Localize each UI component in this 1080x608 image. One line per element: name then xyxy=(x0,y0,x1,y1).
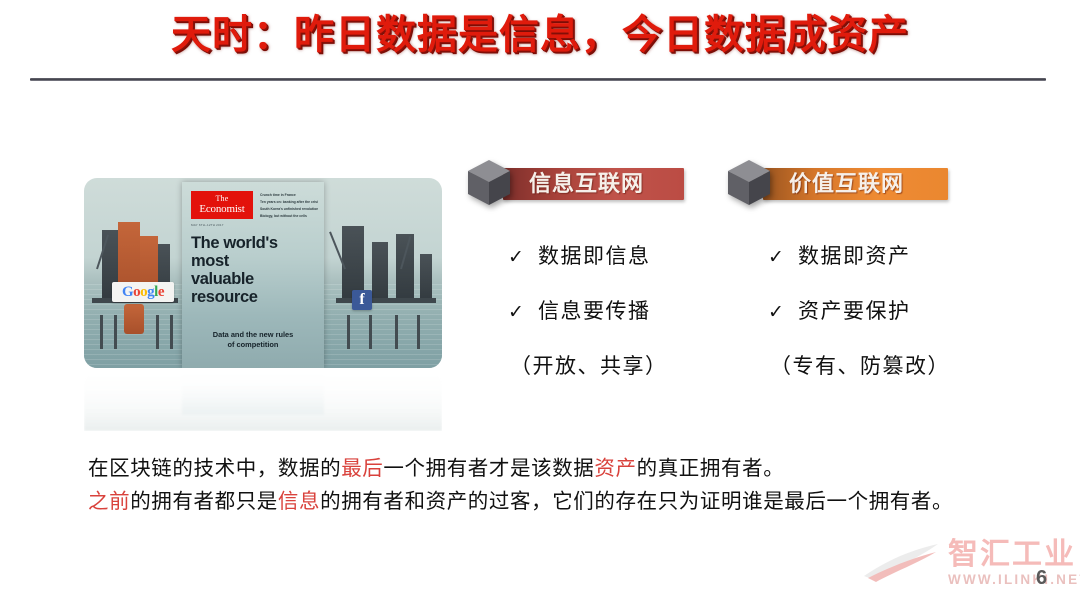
check-icon: ✓ xyxy=(508,248,538,267)
cover-subtitle: Data and the new rules of competition xyxy=(182,330,324,350)
paragraph-run: 的拥有者都只是 xyxy=(130,490,278,513)
economist-name: Economist xyxy=(191,203,253,215)
list-item: ✓ 数据即资产 xyxy=(768,240,950,295)
paragraph-run: 在区块链的技术中，数据的 xyxy=(88,457,341,480)
photo-reflection-cover xyxy=(182,369,324,415)
banner-information-internet: 信息互联网 xyxy=(462,162,684,204)
list-note: （专有、防篡改） xyxy=(768,350,950,400)
list-item-label: 数据即资产 xyxy=(798,240,911,270)
paragraph-line-2: 之前的拥有者都只是信息的拥有者和资产的过客，它们的存在只为证明谁是最后一个拥有者… xyxy=(88,485,1018,518)
cover-headline: The world's most valuable resource xyxy=(191,234,317,306)
rig-column xyxy=(124,304,144,334)
facebook-logo-chip: f xyxy=(352,290,372,310)
list-item: ✓ 资产要保护 xyxy=(768,295,950,350)
page-title: 天时：昨日数据是信息，今日数据成资产 xyxy=(171,14,909,56)
banner-bar: 信息互联网 xyxy=(503,168,684,200)
rig-silhouette xyxy=(420,254,432,300)
check-icon: ✓ xyxy=(768,248,798,267)
banner-label: 信息互联网 xyxy=(503,168,684,200)
cube-icon xyxy=(462,156,516,210)
title-divider xyxy=(30,78,1046,81)
rig-silhouette xyxy=(372,242,388,300)
bullet-list-information: ✓ 数据即信息 ✓ 信息要传播 （开放、共享） xyxy=(508,240,668,400)
paragraph-line-1: 在区块链的技术中，数据的最后一个拥有者才是该数据资产的真正拥有者。 xyxy=(88,452,1018,485)
economist-cover-photo: Google f The Economist MAY 6TH–12TH 2017… xyxy=(84,178,442,368)
slide-canvas: 天时：昨日数据是信息，今日数据成资产 xyxy=(0,0,1080,608)
paragraph-run: 的拥有者和资产的过客，它们的存在只为证明谁是最后一个拥有者。 xyxy=(320,490,953,513)
cover-blurb-list: Crunch time in France Ten years on: bank… xyxy=(260,192,318,220)
check-icon: ✓ xyxy=(508,303,538,322)
highlighted-term: 资产 xyxy=(594,457,636,480)
paragraph-run: 的真正拥有者。 xyxy=(637,457,785,480)
highlighted-term: 信息 xyxy=(278,490,320,513)
highlighted-term: 之前 xyxy=(88,490,130,513)
cover-headline-line1: The world's most xyxy=(191,234,317,270)
cover-subtitle-line1: Data and the new rules xyxy=(182,330,324,340)
cover-headline-line2: valuable resource xyxy=(191,270,317,306)
photo-frame: Google f The Economist MAY 6TH–12TH 2017… xyxy=(84,178,442,368)
economist-the: The xyxy=(191,191,253,203)
google-logo-chip: Google xyxy=(112,282,174,302)
rig-silhouette xyxy=(342,226,364,300)
cover-blurb: Ten years on: banking after the crisis xyxy=(260,199,318,206)
cube-icon xyxy=(722,156,776,210)
list-item-label: 资产要保护 xyxy=(798,295,911,325)
issue-date: MAY 6TH–12TH 2017 xyxy=(191,223,224,227)
list-item: ✓ 数据即信息 xyxy=(508,240,668,295)
banner-label: 价值互联网 xyxy=(763,168,948,200)
banner-bar: 价值互联网 xyxy=(763,168,948,200)
title-block: 天时：昨日数据是信息，今日数据成资产 xyxy=(0,14,1080,56)
cover-blurb: Crunch time in France xyxy=(260,192,318,199)
list-item: ✓ 信息要传播 xyxy=(508,295,668,350)
cover-subtitle-line2: of competition xyxy=(182,340,324,350)
body-paragraph: 在区块链的技术中，数据的最后一个拥有者才是该数据资产的真正拥有者。 之前的拥有者… xyxy=(88,452,1018,518)
page-number: 6 xyxy=(1036,568,1047,588)
list-item-label: 数据即信息 xyxy=(538,240,651,270)
economist-masthead: The Economist xyxy=(191,191,253,219)
rig-platform xyxy=(336,298,436,303)
watermark-url: WWW.ILINKI.NET xyxy=(948,572,1080,587)
photo-reflection xyxy=(84,369,442,431)
list-item-label: 信息要传播 xyxy=(538,295,651,325)
watermark-brand: 智汇工业 xyxy=(948,538,1076,572)
cover-blurb: Biology, but without the cells xyxy=(260,213,318,220)
magazine-cover: The Economist MAY 6TH–12TH 2017 Crunch t… xyxy=(182,182,324,368)
list-note-label: （开放、共享） xyxy=(510,350,668,380)
swoosh-logo-icon xyxy=(862,542,946,586)
list-note-label: （专有、防篡改） xyxy=(770,350,950,380)
rig-silhouette xyxy=(396,234,414,300)
bullet-list-value: ✓ 数据即资产 ✓ 资产要保护 （专有、防篡改） xyxy=(768,240,950,400)
paragraph-run: 一个拥有者才是该数据 xyxy=(383,457,594,480)
check-icon: ✓ xyxy=(768,303,798,322)
list-note: （开放、共享） xyxy=(508,350,668,400)
highlighted-term: 最后 xyxy=(341,457,383,480)
banner-value-internet: 价值互联网 xyxy=(722,162,948,204)
cover-blurb: South Korea's unfinished revolution xyxy=(260,206,318,213)
